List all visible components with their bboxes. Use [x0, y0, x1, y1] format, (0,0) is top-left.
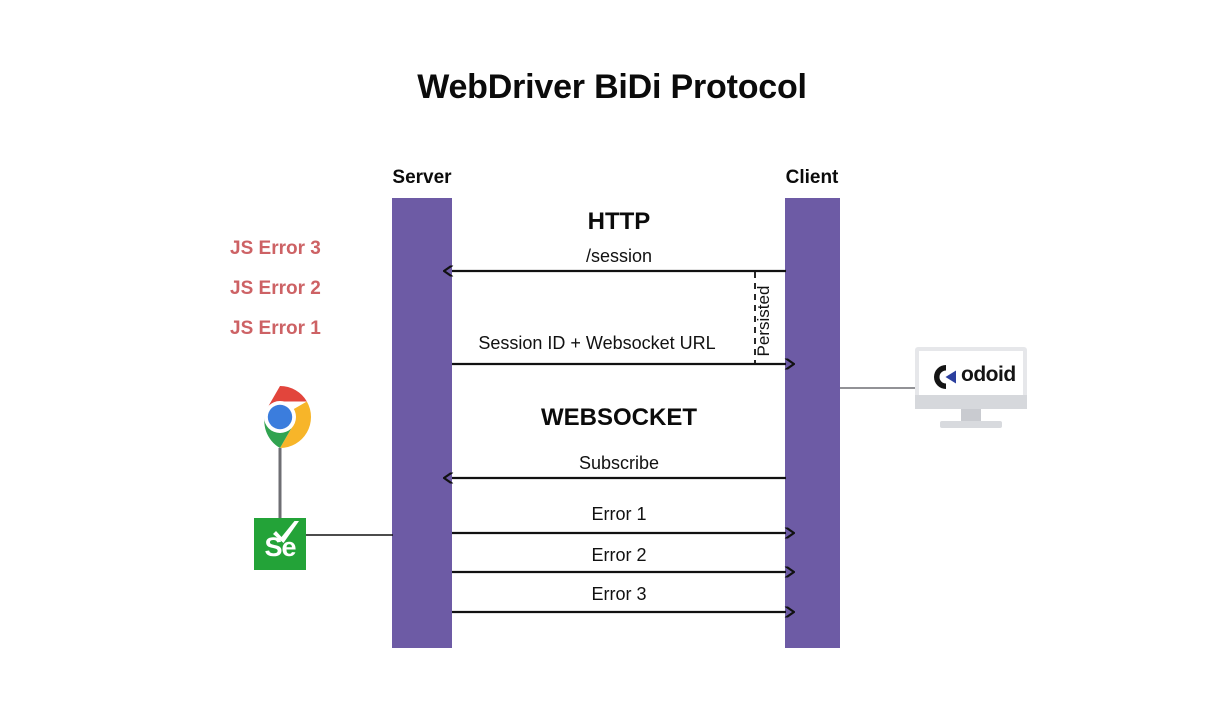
message-label-error-3: Error 3 [452, 584, 786, 605]
monitor-neck [961, 409, 981, 421]
diagram-canvas: WebDriver BiDi Protocol Server Client JS… [0, 0, 1224, 718]
selenium-icon: Se [254, 518, 306, 570]
js-error-label-2: JS Error 2 [230, 278, 450, 300]
codoid-logo-text: odoid [961, 363, 1016, 387]
lane-label-client: Client [750, 167, 874, 189]
message-label-session-id: Session ID + Websocket URL [452, 333, 742, 354]
lane-label-server: Server [360, 167, 484, 189]
message-label-error-1: Error 1 [452, 504, 786, 525]
js-error-label-3: JS Error 3 [230, 238, 450, 260]
js-error-label-1: JS Error 1 [230, 318, 450, 340]
message-arrows [0, 0, 1224, 718]
persisted-annotation: Persisted [742, 272, 786, 370]
section-heading-websocket: WEBSOCKET [452, 404, 786, 432]
monitor-chin [915, 395, 1027, 409]
lifeline-bar-server [392, 198, 452, 648]
message-label-subscribe: Subscribe [452, 453, 786, 474]
codoid-logo: odoid [925, 362, 1025, 392]
message-label-session: /session [452, 246, 786, 267]
selenium-icon-text: Se [254, 530, 306, 564]
chrome-icon [248, 385, 312, 449]
message-label-error-2: Error 2 [452, 545, 786, 566]
lifeline-bar-client [785, 198, 840, 648]
codoid-monitor: odoid [915, 347, 1027, 429]
codoid-logo-c-mark [925, 362, 965, 392]
section-heading-http: HTTP [452, 208, 786, 236]
persisted-annotation-label: Persisted [742, 272, 786, 370]
monitor-base [940, 421, 1002, 428]
page-title: WebDriver BiDi Protocol [0, 68, 1224, 107]
